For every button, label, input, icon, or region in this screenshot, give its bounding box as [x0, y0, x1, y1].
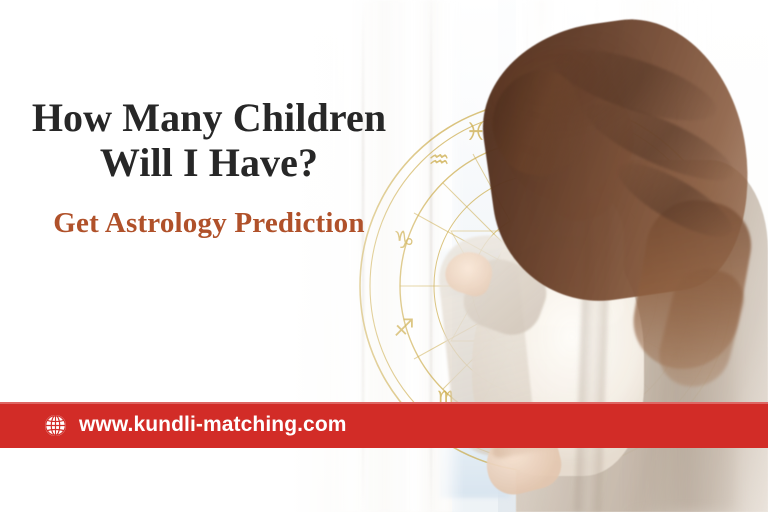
url-bar[interactable]: www.kundli-matching.com — [0, 402, 768, 448]
headline-line-1: How Many Children — [32, 95, 386, 140]
url-bar-content: www.kundli-matching.com — [0, 413, 347, 437]
page-title: How Many Children Will I Have? — [0, 96, 418, 186]
url-bar-highlight — [0, 402, 768, 404]
globe-icon — [44, 414, 67, 437]
website-url[interactable]: www.kundli-matching.com — [79, 413, 347, 437]
headline-line-2: Will I Have? — [0, 141, 418, 186]
subheadline: Get Astrology Prediction — [0, 208, 418, 240]
promo-banner: ♒ ♑ ♐ ♏ ♎ ♍ ♌ ♋ ♊ ♉ ♈ ♓ — [0, 0, 768, 512]
headline-block: How Many Children Will I Have? Get Astro… — [0, 96, 418, 239]
